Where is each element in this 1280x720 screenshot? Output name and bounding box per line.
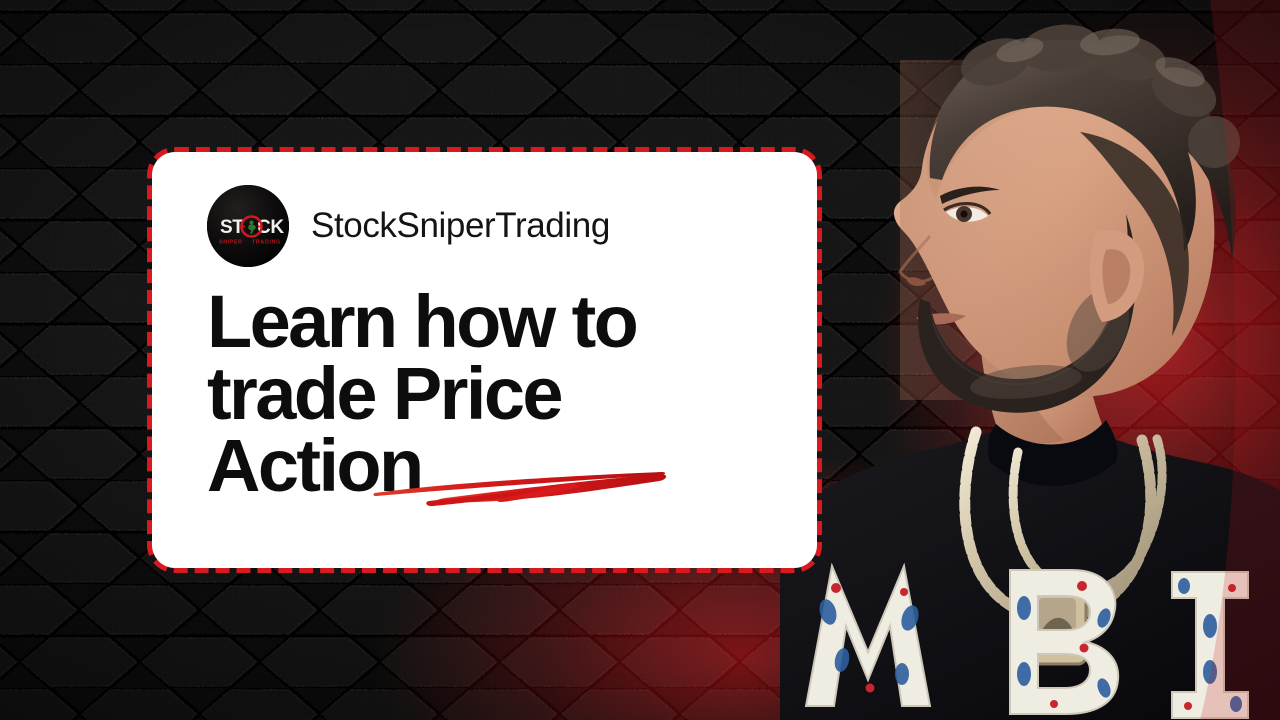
person-portrait	[780, 0, 1280, 720]
stock-sniper-logo-icon: ST CK	[207, 185, 289, 267]
thumbnail-canvas: ST CK	[0, 0, 1280, 720]
card-surface: ST CK	[152, 152, 817, 568]
brand-row: ST CK	[207, 180, 793, 272]
svg-text:SNIPER: SNIPER	[219, 240, 243, 246]
svg-text:TRADING: TRADING	[252, 240, 281, 246]
headline-line-1: Learn how to	[207, 286, 793, 358]
pupil	[960, 210, 967, 217]
headline-line-2: trade Price	[207, 358, 793, 430]
brand-name: StockSniperTrading	[311, 206, 610, 246]
promo-card: ST CK	[147, 147, 822, 573]
headline: Learn how to trade Price Action	[207, 286, 793, 501]
headline-line-3: Action	[207, 430, 793, 502]
